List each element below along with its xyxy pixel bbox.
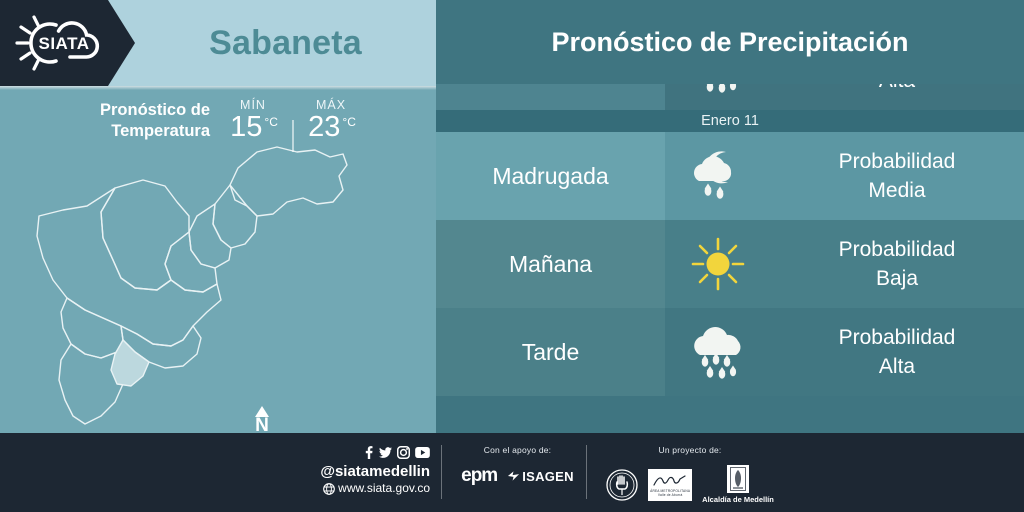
north-label: N <box>249 416 275 433</box>
probability-line1-tarde: Probabilidad <box>839 326 956 349</box>
temperature-min-label: MÍN <box>222 98 284 112</box>
website-text: www.siata.gov.co <box>338 481 430 496</box>
probability-cell-tarde: Probabilidad Alta <box>770 308 1024 396</box>
project-logos: ÁREA METROPOLITANAValle de Aburrá Alcald… <box>595 465 785 504</box>
period-label-madrugada: Madrugada <box>436 132 665 220</box>
alcaldia-mark-icon <box>730 467 746 491</box>
isagen-text: ISAGEN <box>522 469 574 484</box>
period-label-manana: Mañana <box>436 220 665 308</box>
seal-logo <box>606 469 638 501</box>
date-band-2: Enero 11 <box>436 110 1024 132</box>
forecast-panel: Pronóstico de Precipitación Enero 10 Noc… <box>436 0 1024 433</box>
city-title: Sabaneta <box>135 0 436 86</box>
temperature-title-line1: Pronóstico de <box>100 101 210 119</box>
forecast-row-manana: Mañana <box>436 220 1024 308</box>
temperature-min: MÍN 15°C <box>222 98 284 147</box>
temperature-max-value: 23°C <box>308 112 354 147</box>
alcaldia-label: Alcaldía de Medellín <box>702 495 774 504</box>
min-number: 15 <box>230 111 262 143</box>
forecast-row-tarde: Tarde Probabilidad <box>436 308 1024 396</box>
moon-cloud-rain-icon <box>686 146 750 206</box>
support-block: Con el apoyo de: epm ISAGEN <box>455 445 580 487</box>
facebook-icon[interactable] <box>363 446 374 459</box>
forecast-title: Pronóstico de Precipitación <box>436 0 1024 84</box>
support-caption: Con el apoyo de: <box>455 445 580 455</box>
map-svg <box>25 140 420 430</box>
municipality-bello <box>165 232 217 292</box>
probability-line1-manana: Probabilidad <box>839 238 956 261</box>
isagen-logo: ISAGEN <box>507 469 574 484</box>
municipality-sabaneta-highlight <box>111 340 149 386</box>
project-block: Un proyecto de: ÁREA METROPOLITANAValle … <box>595 445 785 504</box>
municipality-copacabana <box>189 204 231 268</box>
area-logo-caption: ÁREA METROPOLITANAValle de Aburrá <box>650 489 690 497</box>
footer-divider-1 <box>441 445 442 499</box>
temperature-max-label: MÁX <box>300 98 362 112</box>
youtube-icon[interactable] <box>415 447 430 458</box>
social-icons <box>300 445 430 460</box>
footer-divider-2 <box>586 445 587 499</box>
instagram-icon[interactable] <box>397 446 410 459</box>
temperature-title: Pronóstico de Temperatura <box>60 100 210 142</box>
weather-icon-cell-manana <box>665 220 770 308</box>
forecast-row-madrugada: Madrugada Probabilidad Media <box>436 132 1024 220</box>
max-unit: °C <box>342 115 355 129</box>
social-handle[interactable]: @siatamedellin <box>300 462 430 481</box>
website-line[interactable]: www.siata.gov.co <box>300 481 430 496</box>
temperature-min-value: 15°C <box>230 112 276 147</box>
globe-icon <box>323 483 335 495</box>
sun-icon <box>688 235 748 293</box>
temperature-title-line2: Temperatura <box>111 122 210 140</box>
epm-logo: epm <box>461 465 497 487</box>
area-metropolitana-logo: ÁREA METROPOLITANAValle de Aburrá <box>648 469 692 501</box>
infographic-root: SIATA Sabaneta Pronóstico de Temperatura… <box>0 0 1024 512</box>
municipality-laestrella <box>61 298 123 358</box>
municipality-medellin <box>37 188 221 346</box>
social-block: @siatamedellin www.siata.gov.co <box>300 445 430 496</box>
valley-map: N <box>25 140 420 430</box>
weather-icon-cell-madrugada <box>665 132 770 220</box>
area-signature-icon <box>651 473 689 489</box>
temperature-divider <box>292 120 294 152</box>
sun-cloud-icon: SIATA <box>12 10 116 76</box>
min-unit: °C <box>264 115 277 129</box>
max-number: 23 <box>308 111 340 143</box>
twitter-icon[interactable] <box>379 446 392 459</box>
left-panel: SIATA Sabaneta Pronóstico de Temperatura… <box>0 0 436 433</box>
municipality-northwest <box>101 180 189 290</box>
siata-logo-badge: SIATA <box>0 0 135 86</box>
probability-cell-madrugada: Probabilidad Media <box>770 132 1024 220</box>
probability-line1-madrugada: Probabilidad <box>839 150 956 173</box>
isagen-mark-icon <box>507 470 520 482</box>
rain-heavy-icon <box>686 322 750 382</box>
probability-line2-manana: Baja <box>876 267 918 290</box>
probability-line2-tarde: Alta <box>879 355 915 378</box>
support-logos: epm ISAGEN <box>455 465 580 487</box>
footer: @siatamedellin www.siata.gov.co Con el a… <box>0 433 1024 512</box>
north-indicator: N <box>249 406 275 433</box>
project-caption: Un proyecto de: <box>595 445 785 455</box>
temperature-values: MÍN 15°C MÁX 23°C <box>222 98 362 156</box>
probability-cell-manana: Probabilidad Baja <box>770 220 1024 308</box>
temperature-block: Pronóstico de Temperatura MÍN 15°C MÁX 2… <box>60 98 360 160</box>
temperature-max: MÁX 23°C <box>300 98 362 147</box>
period-label-tarde: Tarde <box>436 308 665 396</box>
siata-logo-text: SIATA <box>39 34 90 53</box>
alcaldia-logo: Alcaldía de Medellín <box>702 465 774 504</box>
probability-line2-madrugada: Media <box>868 179 925 202</box>
weather-icon-cell-tarde <box>665 308 770 396</box>
